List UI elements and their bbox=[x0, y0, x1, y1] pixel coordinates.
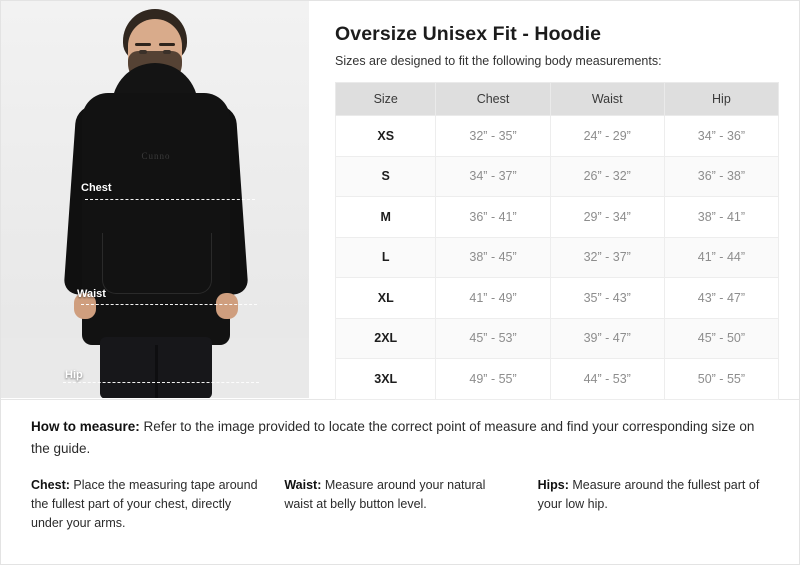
cell-waist: 29” - 34” bbox=[550, 197, 664, 238]
cell-chest: 36” - 41” bbox=[436, 197, 550, 238]
measure-column-waist: Waist: Measure around your natural waist… bbox=[284, 476, 515, 533]
hoodie-body bbox=[82, 93, 230, 345]
cell-chest: 38” - 45” bbox=[436, 237, 550, 278]
table-row: XL 41” - 49” 35” - 43” 43” - 47” bbox=[336, 278, 779, 319]
waist-measure-line bbox=[81, 304, 257, 305]
table-row: L 38” - 45” 32” - 37” 41” - 44” bbox=[336, 237, 779, 278]
model-leg-split bbox=[155, 345, 158, 398]
column-header-waist: Waist bbox=[550, 83, 664, 116]
page-subtitle: Sizes are designed to fit the following … bbox=[335, 54, 779, 68]
cell-waist: 39” - 47” bbox=[550, 318, 664, 359]
size-chart-body: XS 32” - 35” 24” - 29” 34” - 36” S 34” -… bbox=[336, 116, 779, 400]
table-row: XS 32” - 35” 24” - 29” 34” - 36” bbox=[336, 116, 779, 157]
size-table-pane: Oversize Unisex Fit - Hoodie Sizes are d… bbox=[309, 1, 799, 399]
column-header-size: Size bbox=[336, 83, 436, 116]
cell-waist: 26” - 32” bbox=[550, 156, 664, 197]
measure-column-chest: Chest: Place the measuring tape around t… bbox=[31, 476, 262, 533]
size-guide-page: Cunno Chest Waist Hip Oversize Unisex Fi… bbox=[0, 0, 800, 565]
column-header-hip: Hip bbox=[664, 83, 778, 116]
cell-size: M bbox=[336, 197, 436, 238]
cell-waist: 24” - 29” bbox=[550, 116, 664, 157]
cell-chest: 45” - 53” bbox=[436, 318, 550, 359]
cell-size: XS bbox=[336, 116, 436, 157]
top-section: Cunno Chest Waist Hip Oversize Unisex Fi… bbox=[1, 1, 799, 399]
measure-hips-text: Measure around the fullest part of your … bbox=[538, 478, 760, 511]
measure-hips-label: Hips: bbox=[538, 478, 569, 492]
model-hand-right bbox=[216, 293, 238, 319]
product-photo: Cunno Chest Waist Hip bbox=[1, 1, 309, 398]
how-to-measure-label: How to measure: bbox=[31, 419, 140, 434]
chest-measure-line bbox=[85, 199, 255, 200]
cell-size: L bbox=[336, 237, 436, 278]
model-eye-right bbox=[163, 50, 171, 54]
model-eye-left bbox=[139, 50, 147, 54]
table-row: 3XL 49” - 55” 44” - 53” 50” - 55” bbox=[336, 359, 779, 400]
cell-chest: 49” - 55” bbox=[436, 359, 550, 400]
cell-size: 3XL bbox=[336, 359, 436, 400]
measure-column-hips: Hips: Measure around the fullest part of… bbox=[538, 476, 769, 533]
cell-hip: 34” - 36” bbox=[664, 116, 778, 157]
page-title: Oversize Unisex Fit - Hoodie bbox=[335, 23, 779, 46]
how-to-measure-text: Refer to the image provided to locate th… bbox=[31, 419, 754, 456]
cell-chest: 41” - 49” bbox=[436, 278, 550, 319]
hoodie-pocket bbox=[102, 233, 212, 294]
how-to-measure: How to measure: Refer to the image provi… bbox=[31, 416, 769, 460]
measure-waist-label: Waist: bbox=[284, 478, 321, 492]
hoodie-brand-print: Cunno bbox=[128, 151, 184, 161]
cell-hip: 50” - 55” bbox=[664, 359, 778, 400]
measure-instructions: How to measure: Refer to the image provi… bbox=[1, 400, 799, 533]
cell-chest: 34” - 37” bbox=[436, 156, 550, 197]
cell-hip: 36” - 38” bbox=[664, 156, 778, 197]
table-header-row: Size Chest Waist Hip bbox=[336, 83, 779, 116]
cell-hip: 45” - 50” bbox=[664, 318, 778, 359]
hip-measure-label: Hip bbox=[65, 369, 83, 381]
model-eyebrow-left bbox=[135, 43, 151, 46]
table-row: S 34” - 37” 26” - 32” 36” - 38” bbox=[336, 156, 779, 197]
size-chart-table: Size Chest Waist Hip XS 32” - 35” 24” - … bbox=[335, 82, 779, 400]
column-header-chest: Chest bbox=[436, 83, 550, 116]
waist-measure-label: Waist bbox=[77, 288, 106, 300]
measure-columns: Chest: Place the measuring tape around t… bbox=[31, 476, 769, 533]
table-row: M 36” - 41” 29” - 34” 38” - 41” bbox=[336, 197, 779, 238]
cell-waist: 35” - 43” bbox=[550, 278, 664, 319]
measure-chest-label: Chest: bbox=[31, 478, 70, 492]
size-chart-head: Size Chest Waist Hip bbox=[336, 83, 779, 116]
cell-size: 2XL bbox=[336, 318, 436, 359]
cell-size: XL bbox=[336, 278, 436, 319]
cell-hip: 38” - 41” bbox=[664, 197, 778, 238]
cell-size: S bbox=[336, 156, 436, 197]
cell-chest: 32” - 35” bbox=[436, 116, 550, 157]
cell-waist: 32” - 37” bbox=[550, 237, 664, 278]
cell-hip: 41” - 44” bbox=[664, 237, 778, 278]
cell-hip: 43” - 47” bbox=[664, 278, 778, 319]
table-row: 2XL 45” - 53” 39” - 47” 45” - 50” bbox=[336, 318, 779, 359]
model-eyebrow-right bbox=[159, 43, 175, 46]
chest-measure-label: Chest bbox=[81, 182, 112, 194]
cell-waist: 44” - 53” bbox=[550, 359, 664, 400]
hip-measure-line bbox=[63, 382, 259, 383]
